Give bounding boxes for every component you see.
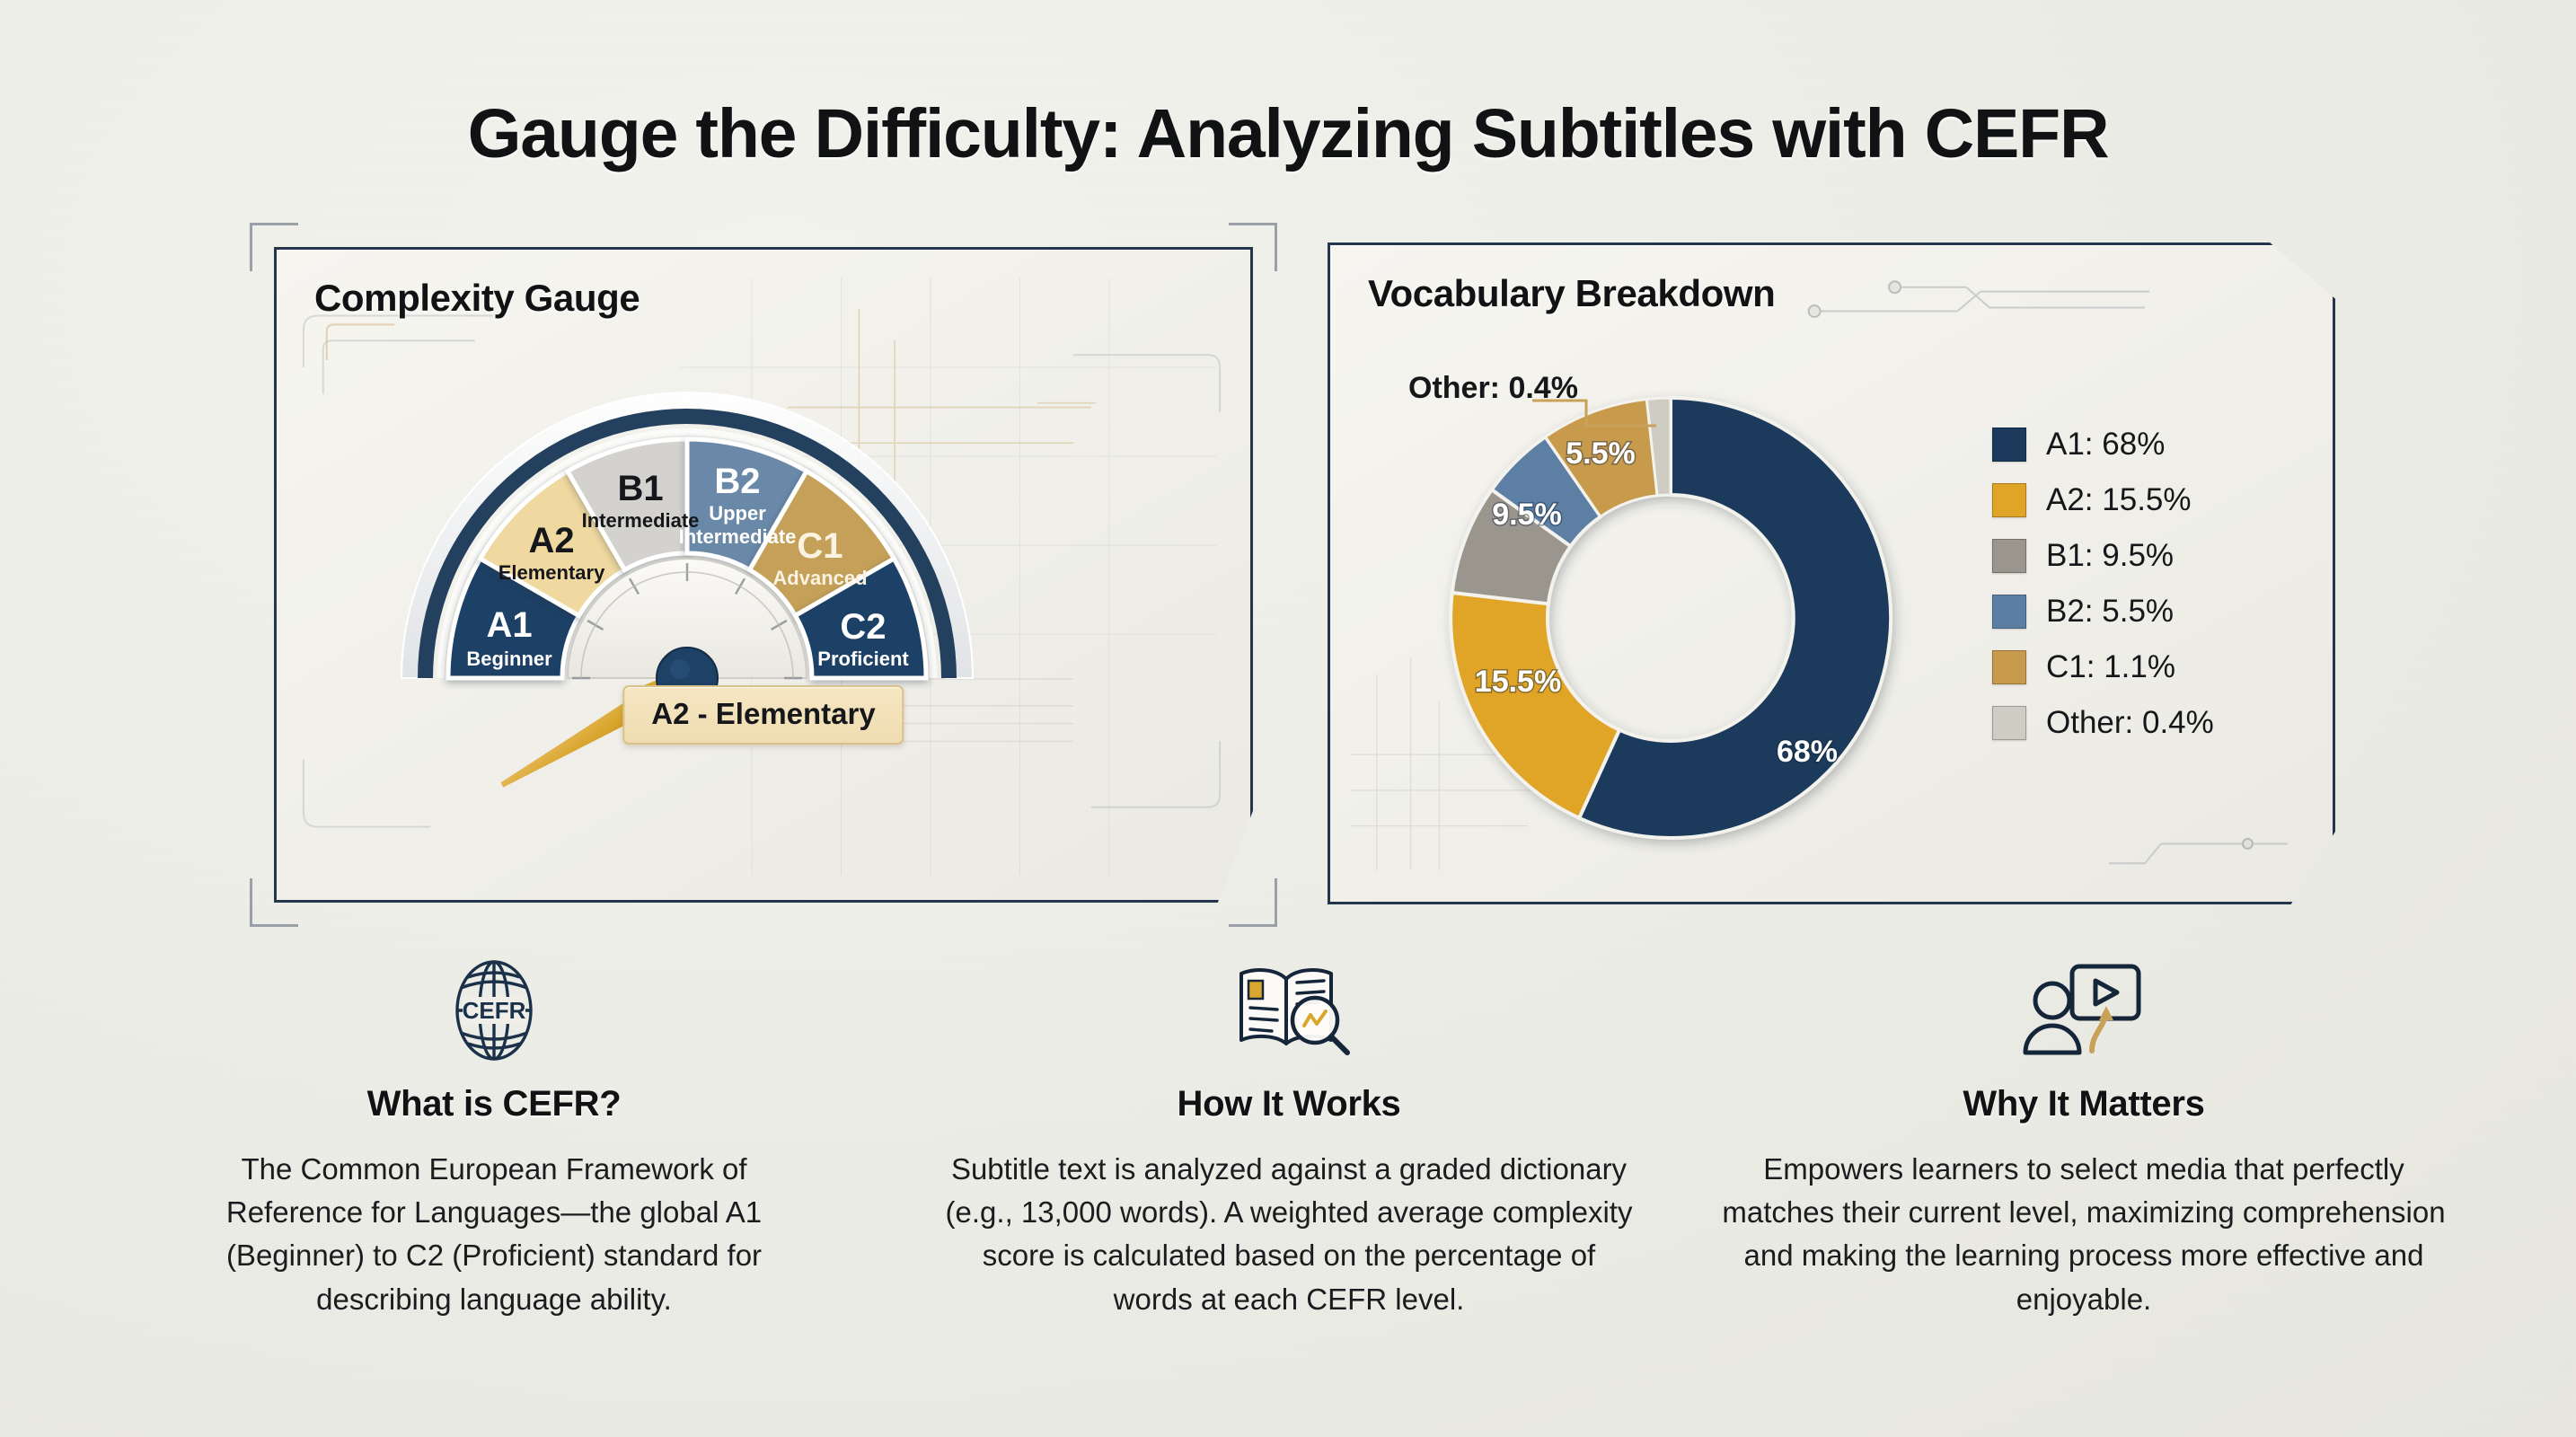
svg-text:A2: A2	[528, 521, 574, 560]
complexity-gauge: A1 Beginner A2 Elementary B1 Intermediat…	[274, 247, 1253, 903]
svg-text:A1: A1	[486, 605, 532, 645]
legend-label-b1: B1: 9.5%	[2046, 538, 2174, 574]
legend-swatch-b2	[1992, 595, 2026, 629]
cefr-icon-text: CEFR	[463, 997, 526, 1024]
svg-text:Upper: Upper	[709, 502, 766, 525]
legend-label-c1: C1: 1.1%	[2046, 649, 2175, 685]
svg-text:B2: B2	[714, 462, 760, 501]
column-heading-3: Why It Matters	[1963, 1084, 2204, 1124]
gauge-result-badge: A2 - Elementary	[622, 685, 904, 745]
svg-text:Beginner: Beginner	[466, 648, 552, 670]
legend-item[interactable]: A1: 68%	[1992, 427, 2214, 463]
legend-item[interactable]: B2: 5.5%	[1992, 594, 2214, 630]
donut-slice-a2	[1451, 593, 1619, 818]
other-slice-callout: Other: 0.4%	[1408, 371, 1578, 406]
donut-label-a1: 68%	[1777, 735, 1838, 769]
donut-legend: A1: 68% A2: 15.5% B1: 9.5% B2: 5.5% C1: …	[1992, 427, 2214, 741]
legend-item[interactable]: C1: 1.1%	[1992, 649, 2214, 685]
svg-text:Advanced: Advanced	[772, 567, 867, 589]
svg-text:Proficient: Proficient	[817, 648, 909, 670]
svg-text:C1: C1	[797, 526, 842, 566]
info-column-why-it-matters: Why It Matters Empowers learners to sele…	[1725, 957, 2443, 1321]
learner-video-icon	[2016, 957, 2151, 1064]
legend-swatch-a2	[1992, 483, 2026, 517]
donut-label-b2: 5.5%	[1566, 436, 1636, 471]
legend-item[interactable]: A2: 15.5%	[1992, 482, 2214, 518]
book-magnifier-icon	[1222, 957, 1356, 1064]
legend-swatch-other	[1992, 706, 2026, 740]
legend-swatch-a1	[1992, 428, 2026, 462]
legend-swatch-b1	[1992, 539, 2026, 573]
column-heading-1: What is CEFR?	[367, 1084, 622, 1124]
legend-label-a2: A2: 15.5%	[2046, 482, 2192, 518]
svg-text:Elementary: Elementary	[498, 561, 605, 584]
svg-text:B1: B1	[617, 469, 663, 508]
donut-label-a2: 15.5%	[1475, 665, 1561, 699]
page-title: Gauge the Difficulty: Analyzing Subtitle…	[0, 94, 2576, 174]
info-column-what-is-cefr: CEFR What is CEFR? The Common European F…	[135, 957, 853, 1321]
legend-item[interactable]: Other: 0.4%	[1992, 705, 2214, 741]
legend-label-b2: B2: 5.5%	[2046, 594, 2174, 630]
column-body-3: Empowers learners to select media that p…	[1711, 1148, 2457, 1321]
cefr-globe-icon: CEFR	[438, 957, 550, 1064]
legend-item[interactable]: B1: 9.5%	[1992, 538, 2214, 574]
info-column-how-it-works: How It Works Subtitle text is analyzed a…	[930, 957, 1648, 1321]
svg-text:Intermediate: Intermediate	[679, 525, 797, 548]
column-body-1: The Common European Framework of Referen…	[175, 1148, 813, 1321]
legend-label-other: Other: 0.4%	[2046, 705, 2214, 741]
vocabulary-donut-chart: 68% 15.5% 9.5% 5.5% Other: 0.4% A1: 68% …	[1328, 242, 2335, 904]
donut-label-b1: 9.5%	[1492, 498, 1562, 532]
column-body-2: Subtitle text is analyzed against a grad…	[943, 1148, 1635, 1321]
legend-swatch-c1	[1992, 650, 2026, 684]
info-columns: CEFR What is CEFR? The Common European F…	[135, 957, 2443, 1321]
column-heading-2: How It Works	[1177, 1084, 1400, 1124]
legend-label-a1: A1: 68%	[2046, 427, 2165, 463]
svg-text:C2: C2	[840, 607, 886, 647]
